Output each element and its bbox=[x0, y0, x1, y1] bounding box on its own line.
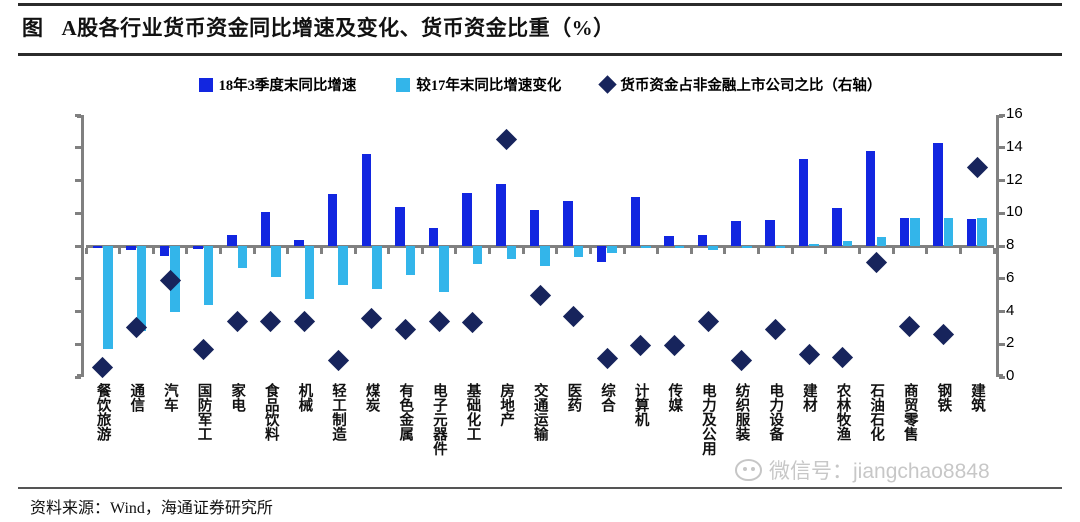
y-axis-label-right: 14 bbox=[1006, 138, 1046, 155]
x-tick bbox=[354, 248, 357, 254]
x-tick bbox=[791, 248, 794, 254]
bar-change bbox=[607, 246, 617, 253]
x-label-6: 食品饮料 bbox=[263, 383, 278, 441]
marker-share bbox=[866, 252, 887, 273]
legend-label: 18年3季度末同比增速 bbox=[219, 74, 357, 95]
x-tick bbox=[589, 248, 592, 254]
y-tick-left bbox=[75, 179, 81, 182]
marker-share bbox=[933, 324, 954, 345]
x-label-20: 纺织服装 bbox=[734, 383, 749, 441]
y-tick-right bbox=[999, 310, 1005, 313]
y-axis-label-right: 10 bbox=[1006, 203, 1046, 220]
x-label-22: 建材 bbox=[801, 383, 816, 412]
bar-change bbox=[944, 218, 954, 246]
bar-growth bbox=[631, 197, 641, 246]
legend-square-icon bbox=[396, 78, 410, 92]
bar-growth bbox=[933, 143, 943, 246]
bar-change bbox=[843, 241, 853, 246]
source-note: 资料来源：Wind，海通证券研究所 bbox=[30, 494, 273, 518]
x-tick bbox=[892, 248, 895, 254]
x-tick bbox=[656, 248, 659, 254]
x-tick bbox=[387, 248, 390, 254]
bar-growth bbox=[530, 210, 540, 246]
marker-share bbox=[193, 339, 214, 360]
bar-change bbox=[708, 246, 718, 250]
bar-change bbox=[473, 246, 483, 264]
y-tick-left bbox=[75, 310, 81, 313]
plot-area: 403020100-10-20-30-40 1614121086420 bbox=[86, 115, 994, 377]
x-label-13: 房地产 bbox=[498, 383, 513, 427]
x-tick bbox=[858, 248, 861, 254]
x-label-11: 电子元器件 bbox=[431, 383, 446, 456]
x-tick bbox=[185, 248, 188, 254]
y-axis-label-right: 4 bbox=[1006, 302, 1046, 319]
x-tick bbox=[253, 248, 256, 254]
y-axis-label-right: 0 bbox=[1006, 367, 1046, 384]
x-label-23: 农林牧渔 bbox=[835, 383, 850, 441]
marker-share bbox=[429, 311, 450, 332]
bar-growth bbox=[362, 154, 372, 246]
bar-growth bbox=[462, 193, 472, 246]
bar-change bbox=[574, 246, 584, 257]
x-label-27: 建筑 bbox=[969, 383, 984, 412]
x-label-19: 电力及公用 bbox=[700, 383, 715, 456]
bar-growth bbox=[227, 235, 237, 246]
title-bar: 图A股各行业货币资金同比增速及变化、货币资金比重（%） bbox=[0, 0, 1080, 56]
x-tick bbox=[959, 248, 962, 254]
marker-share bbox=[899, 316, 920, 337]
y-tick-right bbox=[999, 212, 1005, 215]
x-label-9: 煤炭 bbox=[364, 383, 379, 412]
legend-label: 较17年末同比增速变化 bbox=[416, 74, 561, 95]
x-label-16: 综合 bbox=[599, 383, 614, 412]
y-tick-right bbox=[999, 343, 1005, 346]
x-tick bbox=[925, 248, 928, 254]
y-tick-left bbox=[75, 277, 81, 280]
marker-share bbox=[529, 285, 550, 306]
bar-growth bbox=[832, 208, 842, 246]
chart-legend: 18年3季度末同比增速较17年末同比增速变化货币资金占非金融上市公司之比（右轴） bbox=[0, 74, 1080, 95]
title-text: A股各行业货币资金同比增速及变化、货币资金比重（%） bbox=[62, 16, 615, 40]
bar-growth bbox=[395, 207, 405, 246]
bar-growth bbox=[496, 184, 506, 246]
x-tick bbox=[286, 248, 289, 254]
marker-share bbox=[563, 306, 584, 327]
bar-growth bbox=[799, 159, 809, 246]
marker-share bbox=[260, 311, 281, 332]
bar-growth bbox=[967, 219, 977, 246]
bar-growth bbox=[126, 246, 136, 250]
x-label-15: 医药 bbox=[566, 383, 581, 412]
axis-cap bbox=[77, 115, 84, 118]
y-axis-label-right: 8 bbox=[1006, 236, 1046, 253]
bar-change bbox=[540, 246, 550, 266]
y-axis-label-right: 2 bbox=[1006, 334, 1046, 351]
bar-growth bbox=[93, 246, 103, 248]
x-tick bbox=[320, 248, 323, 254]
x-tick bbox=[555, 248, 558, 254]
marker-share bbox=[395, 319, 416, 340]
page-title: 图A股各行业货币资金同比增速及变化、货币资金比重（%） bbox=[22, 12, 615, 42]
x-tick bbox=[421, 248, 424, 254]
x-label-18: 传媒 bbox=[667, 383, 682, 412]
marker-share bbox=[664, 335, 685, 356]
bar-change bbox=[742, 246, 752, 248]
marker-share bbox=[698, 311, 719, 332]
x-tick bbox=[85, 248, 88, 254]
x-label-1: 餐饮旅游 bbox=[95, 383, 110, 441]
axis-cap bbox=[77, 374, 84, 377]
marker-share bbox=[765, 319, 786, 340]
legend-item-3[interactable]: 货币资金占非金融上市公司之比（右轴） bbox=[601, 74, 881, 95]
x-tick bbox=[723, 248, 726, 254]
bar-change bbox=[271, 246, 281, 277]
x-tick bbox=[757, 248, 760, 254]
bar-growth bbox=[698, 235, 708, 246]
bar-change bbox=[507, 246, 517, 259]
y-tick-right bbox=[999, 277, 1005, 280]
marker-share bbox=[294, 311, 315, 332]
x-label-26: 钢铁 bbox=[936, 383, 951, 412]
x-tick bbox=[993, 248, 996, 254]
x-tick bbox=[824, 248, 827, 254]
marker-share bbox=[967, 157, 988, 178]
bar-change bbox=[641, 246, 651, 248]
marker-share bbox=[462, 312, 483, 333]
bar-growth bbox=[193, 246, 203, 249]
bar-growth bbox=[429, 228, 439, 246]
x-label-10: 有色金属 bbox=[397, 383, 412, 441]
x-label-24: 石油石化 bbox=[868, 383, 883, 441]
bar-growth bbox=[900, 218, 910, 246]
x-label-17: 计算机 bbox=[633, 383, 648, 427]
title-rule-top bbox=[18, 3, 1062, 6]
marker-share bbox=[92, 357, 113, 378]
bar-change bbox=[338, 246, 348, 285]
marker-share bbox=[496, 129, 517, 150]
axis-cap bbox=[996, 115, 1003, 118]
x-label-8: 轻工制造 bbox=[330, 383, 345, 441]
x-tick bbox=[219, 248, 222, 254]
x-label-3: 汽车 bbox=[162, 383, 177, 412]
title-rule-bottom bbox=[18, 53, 1062, 56]
bar-change bbox=[977, 218, 987, 246]
legend-label: 货币资金占非金融上市公司之比（右轴） bbox=[620, 74, 881, 95]
legend-item-2[interactable]: 较17年末同比增速变化 bbox=[396, 74, 561, 95]
x-label-2: 通信 bbox=[128, 383, 143, 412]
y-tick-right bbox=[999, 146, 1005, 149]
bar-change bbox=[406, 246, 416, 275]
marker-share bbox=[832, 347, 853, 368]
y-tick-right bbox=[999, 245, 1005, 248]
y-axis-label-right: 16 bbox=[1006, 105, 1046, 122]
legend-square-icon bbox=[199, 78, 213, 92]
marker-share bbox=[798, 343, 819, 364]
x-label-12: 基础化工 bbox=[465, 383, 480, 441]
x-tick bbox=[522, 248, 525, 254]
marker-share bbox=[731, 350, 752, 371]
bar-change bbox=[439, 246, 449, 292]
bar-change bbox=[238, 246, 248, 268]
y-tick-left bbox=[75, 146, 81, 149]
bar-change bbox=[204, 246, 214, 305]
marker-share bbox=[227, 311, 248, 332]
y-tick-left bbox=[75, 245, 81, 248]
bar-change bbox=[776, 246, 786, 248]
x-label-21: 电力设备 bbox=[767, 383, 782, 441]
x-tick bbox=[690, 248, 693, 254]
bar-growth bbox=[866, 151, 876, 246]
bar-growth bbox=[328, 194, 338, 246]
x-tick bbox=[118, 248, 121, 254]
bar-change bbox=[305, 246, 315, 299]
x-axis-labels: 餐饮旅游通信汽车国防军工家电食品饮料机械轻工制造煤炭有色金属电子元器件基础化工房… bbox=[86, 383, 994, 483]
bar-growth bbox=[160, 246, 170, 256]
chart-page: 图A股各行业货币资金同比增速及变化、货币资金比重（%） 18年3季度末同比增速较… bbox=[0, 0, 1080, 522]
x-label-4: 国防军工 bbox=[196, 383, 211, 441]
y-tick-left bbox=[75, 343, 81, 346]
x-label-5: 家电 bbox=[229, 383, 244, 412]
bar-growth bbox=[731, 221, 741, 246]
x-label-7: 机械 bbox=[297, 383, 312, 412]
y-axis-label-right: 6 bbox=[1006, 269, 1046, 286]
figure-label: 图 bbox=[22, 16, 44, 40]
x-tick bbox=[488, 248, 491, 254]
bar-change bbox=[103, 246, 113, 349]
bar-change bbox=[809, 244, 819, 246]
legend-item-1[interactable]: 18年3季度末同比增速 bbox=[199, 74, 357, 95]
bar-change bbox=[910, 218, 920, 246]
bar-change bbox=[877, 237, 887, 246]
marker-share bbox=[597, 348, 618, 369]
marker-share bbox=[361, 307, 382, 328]
x-tick bbox=[623, 248, 626, 254]
y-axis-label-right: 12 bbox=[1006, 171, 1046, 188]
y-axis-left bbox=[81, 115, 84, 377]
bar-growth bbox=[261, 212, 271, 246]
bar-growth bbox=[294, 240, 304, 246]
axis-cap bbox=[996, 374, 1003, 377]
bar-change bbox=[675, 246, 685, 248]
x-label-25: 商贸零售 bbox=[902, 383, 917, 441]
bar-growth bbox=[563, 201, 573, 246]
marker-share bbox=[328, 350, 349, 371]
bar-growth bbox=[597, 246, 607, 262]
x-tick bbox=[152, 248, 155, 254]
legend-diamond-icon bbox=[599, 75, 617, 93]
x-tick bbox=[454, 248, 457, 254]
y-tick-right bbox=[999, 179, 1005, 182]
bar-growth bbox=[765, 220, 775, 246]
footer-rule bbox=[18, 487, 1062, 489]
bar-growth bbox=[664, 236, 674, 246]
y-tick-left bbox=[75, 212, 81, 215]
x-label-14: 交通运输 bbox=[532, 383, 547, 441]
bar-change bbox=[372, 246, 382, 289]
marker-share bbox=[630, 335, 651, 356]
